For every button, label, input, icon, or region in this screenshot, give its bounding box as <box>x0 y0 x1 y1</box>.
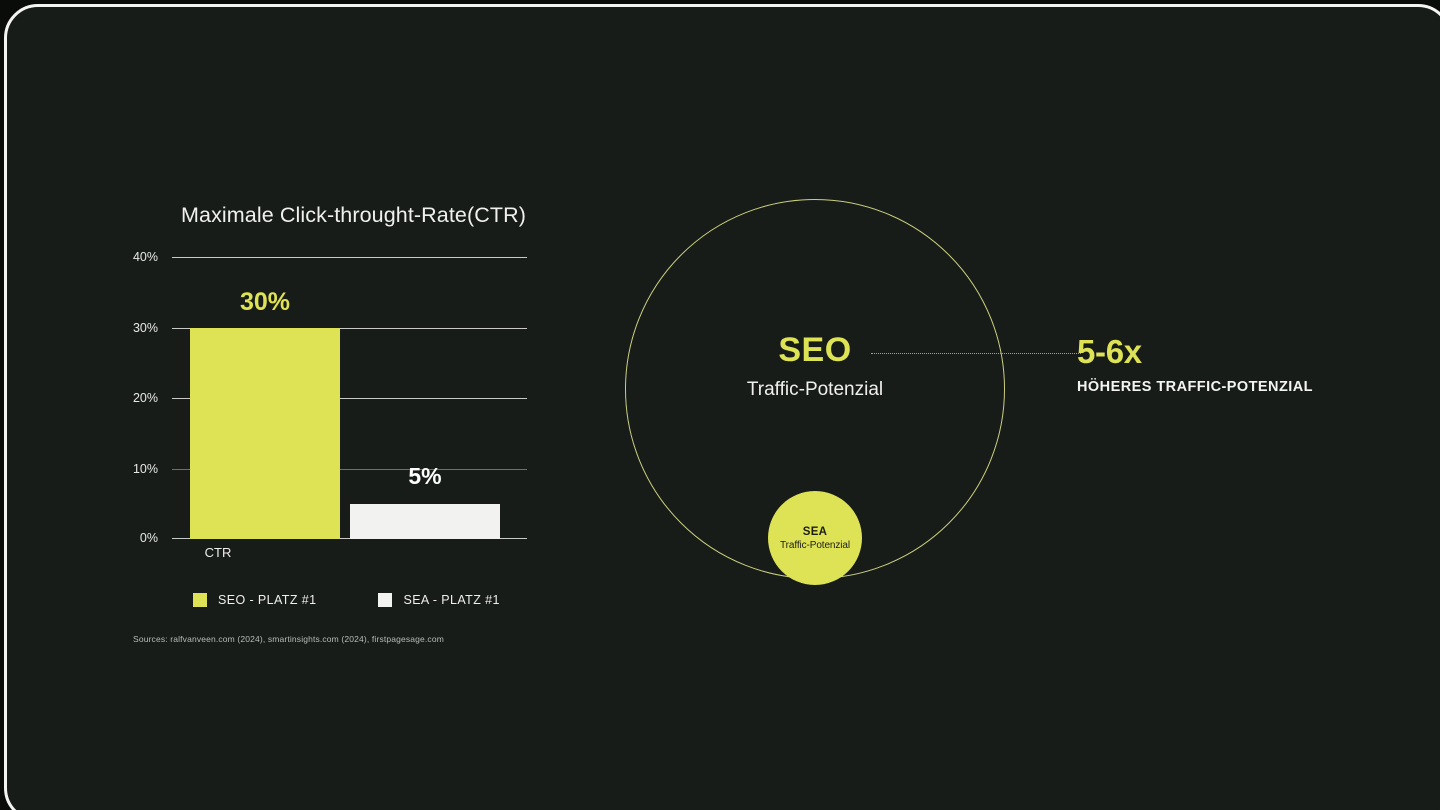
callout-label: HÖHERES TRAFFIC-POTENZIAL <box>1077 379 1407 395</box>
ytick-label-0: 0% <box>140 531 170 545</box>
slide-canvas: Maximale Click-throught-Rate(CTR) 40% 30… <box>7 7 1440 810</box>
chart-legend: SEO - PLATZ #1 SEA - PLATZ #1 <box>193 593 500 607</box>
bar-sea[interactable] <box>350 504 500 539</box>
ytick-label-10: 10% <box>133 462 170 476</box>
plot-area: 40% 30% 20% 10% 0% 30% 5% <box>172 257 527 539</box>
legend-label-seo: SEO - PLATZ #1 <box>218 593 316 607</box>
seo-circle-subtitle: Traffic-Potenzial <box>747 379 883 401</box>
legend-swatch-sea <box>378 593 392 607</box>
bar-value-label-seo: 30% <box>240 288 290 317</box>
legend-item-seo[interactable]: SEO - PLATZ #1 <box>193 593 316 607</box>
xaxis-label: CTR <box>205 545 232 560</box>
ytick-label-40: 40% <box>133 250 170 264</box>
bar-seo[interactable] <box>190 328 340 540</box>
callout-value: 5-6x <box>1077 335 1407 370</box>
legend-label-sea: SEA - PLATZ #1 <box>403 593 499 607</box>
bar-chart: Maximale Click-throught-Rate(CTR) 40% 30… <box>125 203 545 563</box>
seo-circle-title: SEO <box>778 331 851 370</box>
connector-dotted-line <box>871 353 1081 354</box>
proportion-diagram: SEO Traffic-Potenzial SEA Traffic-Potenz… <box>615 189 1035 599</box>
source-note: Sources: ralfvanveen.com (2024), smartin… <box>133 634 444 644</box>
chart-title: Maximale Click-throught-Rate(CTR) <box>181 203 526 228</box>
legend-swatch-seo <box>193 593 207 607</box>
sea-circle: SEA Traffic-Potenzial <box>768 491 862 585</box>
slide-root: Maximale Click-throught-Rate(CTR) 40% 30… <box>0 0 1440 810</box>
sea-circle-title: SEA <box>803 526 828 538</box>
ytick-label-30: 30% <box>133 321 170 335</box>
ytick-label-20: 20% <box>133 391 170 405</box>
callout-block: 5-6x HÖHERES TRAFFIC-POTENZIAL <box>1077 335 1407 395</box>
bar-value-label-sea: 5% <box>408 463 441 490</box>
sea-circle-subtitle: Traffic-Potenzial <box>780 540 850 551</box>
legend-item-sea[interactable]: SEA - PLATZ #1 <box>378 593 499 607</box>
gridline-40 <box>172 257 527 258</box>
